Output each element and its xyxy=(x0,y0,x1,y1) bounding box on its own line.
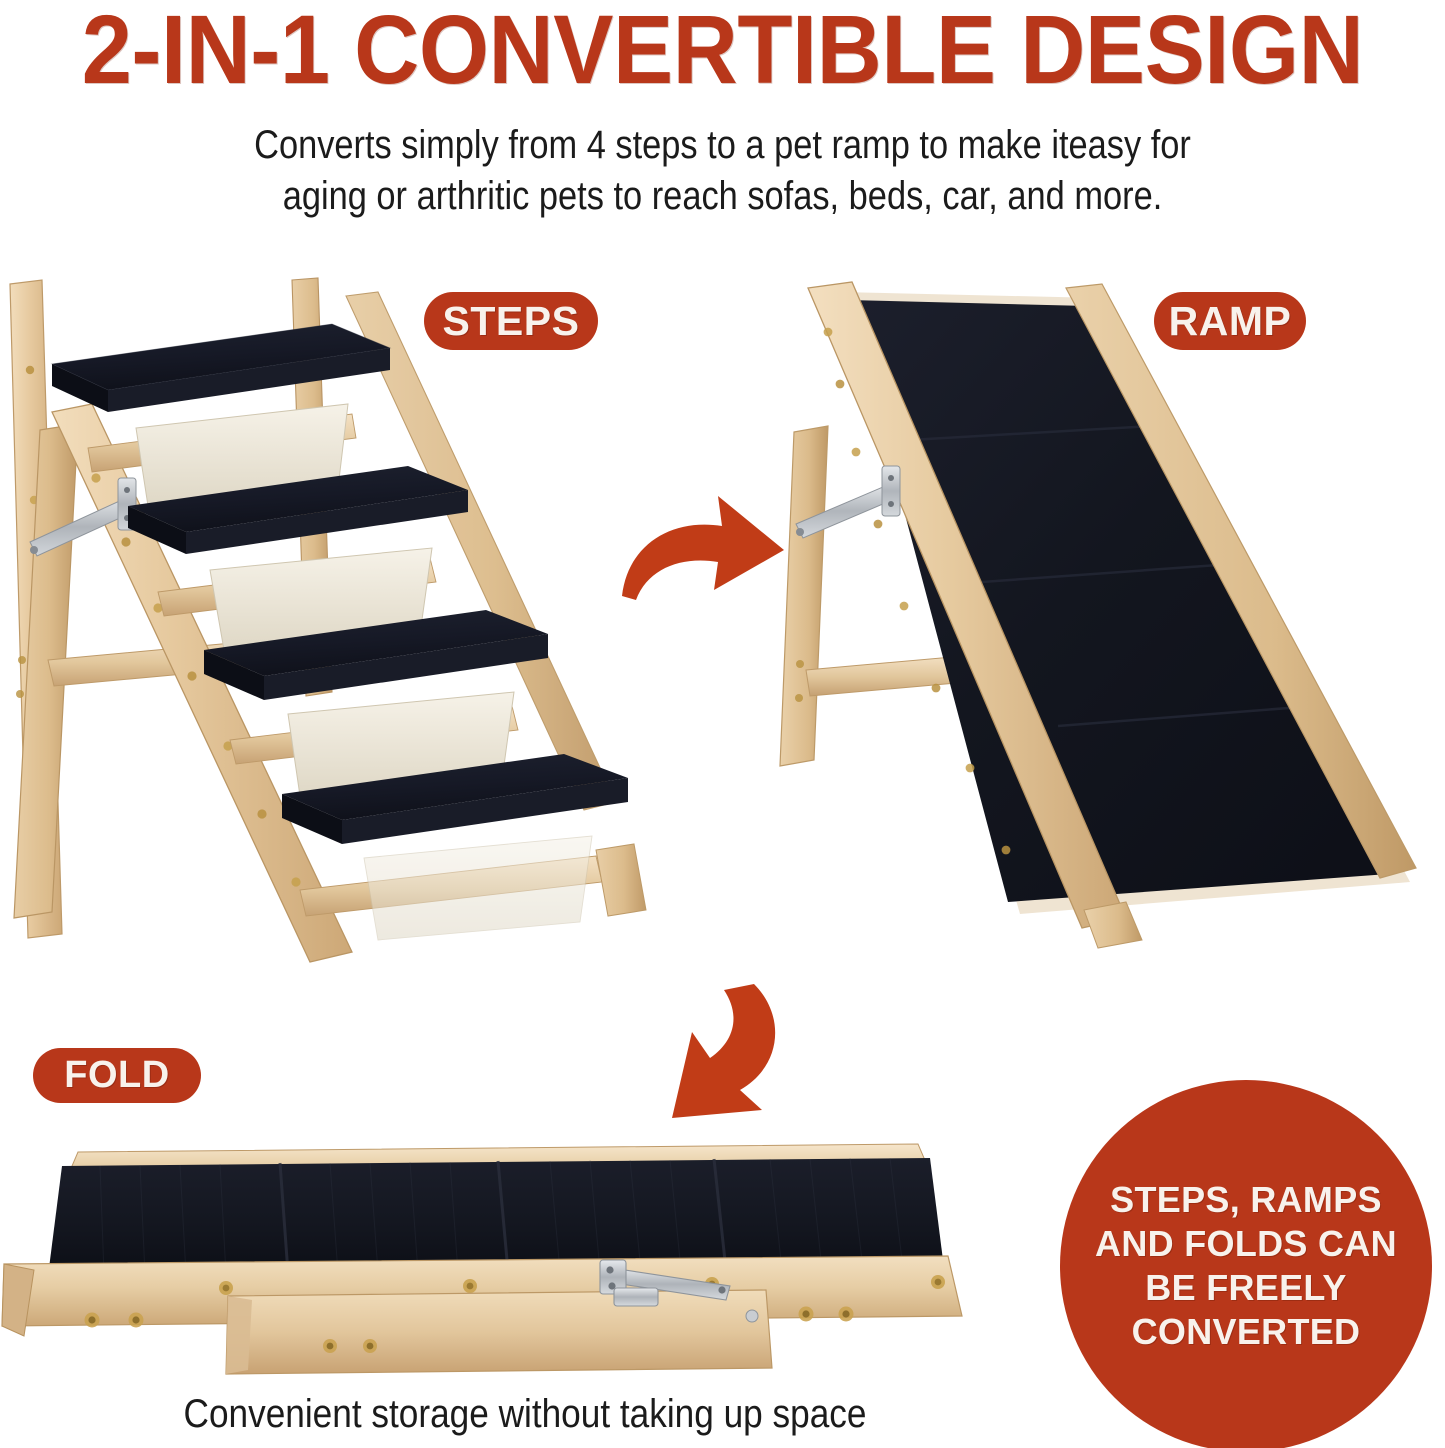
circle-callout: STEPS, RAMPS AND FOLDS CAN BE FREELY CON… xyxy=(1060,1080,1432,1448)
page-title: 2-IN-1 CONVERTIBLE DESIGN xyxy=(51,2,1395,97)
page-subtitle: Converts simply from 4 steps to a pet ra… xyxy=(196,120,1250,222)
infographic-page: 2-IN-1 CONVERTIBLE DESIGN Converts simpl… xyxy=(0,0,1445,1448)
bottom-caption: Convenient storage without taking up spa… xyxy=(81,1392,970,1437)
subtitle-line-2: aging or arthritic pets to reach sofas, … xyxy=(196,171,1250,222)
curved-arrow-right-icon xyxy=(618,478,788,608)
callout-line-1: STEPS, RAMPS xyxy=(1110,1178,1382,1222)
badge-fold: FOLD xyxy=(33,1048,201,1103)
callout-line-3: BE FREELY xyxy=(1145,1266,1346,1310)
product-photo-ramp xyxy=(770,262,1430,962)
callout-line-2: AND FOLDS CAN xyxy=(1095,1222,1397,1266)
ramp-carpet-surface xyxy=(848,300,1388,902)
product-photo-steps xyxy=(0,262,660,982)
callout-line-4: CONVERTED xyxy=(1132,1310,1361,1354)
badge-steps: STEPS xyxy=(424,292,598,350)
subtitle-line-1: Converts simply from 4 steps to a pet ra… xyxy=(196,120,1250,171)
badge-ramp: RAMP xyxy=(1154,292,1306,350)
product-photo-folded xyxy=(0,1120,1030,1405)
curved-arrow-down-icon xyxy=(636,982,811,1122)
